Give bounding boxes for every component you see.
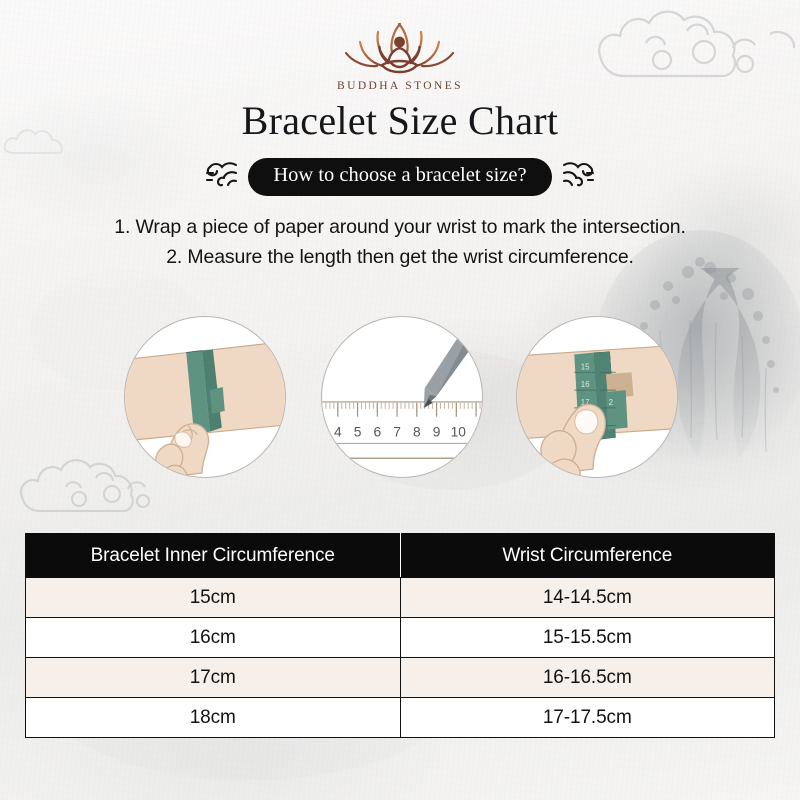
illustration-row: 345 678 91011 [0, 314, 800, 482]
cell-wrist-size: 14-14.5cm [400, 578, 775, 618]
svg-text:4: 4 [334, 424, 342, 440]
brand-wordmark: BUDDHA STONES [0, 80, 800, 92]
table-header-row: Bracelet Inner Circumference Wrist Circu… [26, 534, 775, 578]
table-row: 15cm 14-14.5cm [26, 578, 775, 618]
svg-text:8: 8 [413, 424, 421, 440]
how-to-banner: How to choose a bracelet size? [0, 158, 800, 196]
cloud-swirl-ornament-right-icon [561, 159, 595, 194]
column-header-wrist: Wrist Circumference [400, 534, 775, 578]
ruler-with-pencil-illustration: 345 678 91011 [321, 316, 483, 478]
svg-text:5: 5 [354, 424, 362, 440]
svg-text:2: 2 [609, 398, 613, 407]
wrist-with-paper-strip-illustration [124, 316, 286, 478]
lotus-meditation-logo-icon [335, 16, 465, 78]
svg-text:6: 6 [373, 424, 381, 440]
cell-bracelet-size: 18cm [26, 698, 401, 738]
table-row: 18cm 17-17.5cm [26, 698, 775, 738]
instruction-line-1: 1. Wrap a piece of paper around your wri… [0, 212, 800, 242]
svg-text:11: 11 [474, 424, 482, 440]
page-title: Bracelet Size Chart [0, 97, 800, 144]
banner-pill: How to choose a bracelet size? [248, 158, 551, 196]
cell-bracelet-size: 17cm [26, 658, 401, 698]
size-chart-table: Bracelet Inner Circumference Wrist Circu… [25, 533, 775, 738]
cell-bracelet-size: 16cm [26, 618, 401, 658]
svg-text:16: 16 [581, 380, 590, 389]
table-row: 17cm 16-16.5cm [26, 658, 775, 698]
svg-text:7: 7 [393, 424, 401, 440]
cell-wrist-size: 15-15.5cm [400, 618, 775, 658]
svg-text:10: 10 [451, 424, 467, 440]
instruction-line-2: 2. Measure the length then get the wrist… [0, 242, 800, 272]
instructions-list: 1. Wrap a piece of paper around your wri… [0, 212, 800, 272]
brand-logo: BUDDHA STONES [0, 16, 800, 92]
svg-text:9: 9 [433, 424, 441, 440]
svg-text:15: 15 [581, 362, 590, 371]
cloud-swirl-ornament-left-icon [205, 159, 239, 194]
cell-wrist-size: 17-17.5cm [400, 698, 775, 738]
cell-bracelet-size: 15cm [26, 578, 401, 618]
table-row: 16cm 15-15.5cm [26, 618, 775, 658]
cell-wrist-size: 16-16.5cm [400, 658, 775, 698]
measuring-tape-on-wrist-illustration: 151617 2 [516, 316, 678, 478]
column-header-bracelet: Bracelet Inner Circumference [26, 534, 401, 578]
